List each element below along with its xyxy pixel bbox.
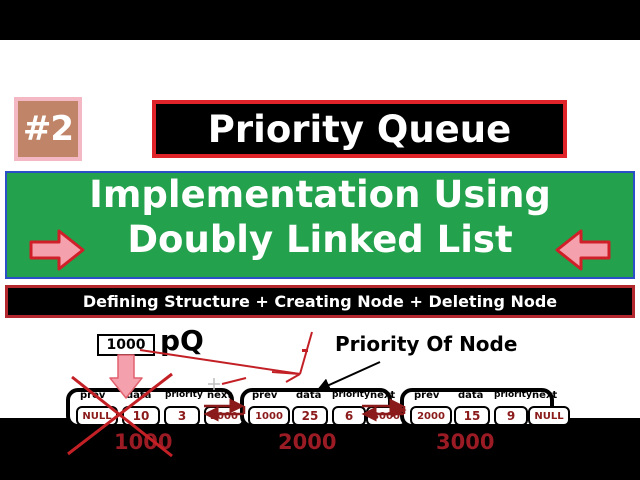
banner-line-1: Implementation Using	[7, 176, 633, 215]
node-3-data-label: data	[458, 390, 483, 401]
node-3-priority-value: 9	[507, 409, 515, 423]
node-1-priority-field: 3	[164, 406, 200, 426]
node-2-prev-field: 1000	[248, 406, 290, 426]
topics-text: Defining Structure + Creating Node + Del…	[83, 292, 557, 311]
video-frame: #2 Priority Queue Implementation Using D…	[0, 0, 640, 480]
node-1-address: 1000	[114, 432, 172, 453]
episode-number-badge: #2	[14, 97, 82, 161]
node-3: prev 2000 data 15 priority 9 next NULL	[400, 388, 554, 428]
node-3-data-value: 15	[464, 409, 481, 423]
node-3-prev-value: 2000	[417, 411, 445, 422]
node-1-data-label: data	[126, 390, 151, 401]
node-1-priority-value: 3	[178, 409, 186, 423]
slide-canvas: #2 Priority Queue Implementation Using D…	[0, 40, 640, 418]
node-3-priority-field: 9	[494, 406, 528, 426]
pointer-line-secondary	[300, 332, 312, 374]
node-2-address: 2000	[278, 432, 336, 453]
episode-number-text: #2	[23, 112, 73, 146]
right-pointing-arrow-icon	[29, 228, 85, 272]
node-3-next-value: NULL	[534, 411, 563, 422]
node-2-next-label: next	[370, 390, 395, 401]
node-2-priority-label: priority	[332, 390, 370, 400]
node-2-priority-value: 6	[345, 409, 353, 423]
node-3-priority-label: priority	[494, 390, 532, 400]
node-1-next-field: 2000	[204, 406, 244, 426]
node-1-prev-field: NULL	[76, 406, 118, 426]
priority-annotation-label: Priority Of Node	[335, 334, 517, 354]
pq-pointer-label: pQ	[160, 327, 204, 355]
page-title: Priority Queue	[208, 111, 511, 148]
pq-pointer-value: 1000	[107, 337, 146, 353]
banner-line-2: Doubly Linked List	[7, 221, 633, 260]
node-1-next-value: 2000	[210, 411, 238, 422]
node-2-data-label: data	[296, 390, 321, 401]
node-2-prev-label: prev	[252, 390, 277, 401]
node-2-prev-value: 1000	[255, 411, 283, 422]
linked-list-diagram: 1000 pQ Priority Of Node prev NULL data …	[0, 322, 640, 458]
node-3-prev-label: prev	[414, 390, 439, 401]
node-2-data-value: 25	[302, 409, 319, 423]
node-1-prev-label: prev	[80, 390, 105, 401]
node-2-data-field: 25	[292, 406, 328, 426]
node-1: prev NULL data 10 priority 3 next 2000	[66, 388, 234, 428]
node-1-prev-value: NULL	[82, 411, 111, 422]
node-2-priority-field: 6	[332, 406, 366, 426]
priority-annotation-arrow	[318, 362, 380, 390]
node-3-next-label: next	[532, 390, 557, 401]
node-1-data-value: 10	[133, 409, 150, 423]
topics-bar: Defining Structure + Creating Node + Del…	[5, 285, 635, 318]
node-3-next-field: NULL	[528, 406, 570, 426]
page-title-box: Priority Queue	[152, 100, 567, 158]
node-2: prev 1000 data 25 priority 6 next 3000	[240, 388, 392, 428]
node-3-address: 3000	[436, 432, 494, 453]
pointer-line-tertiary	[222, 378, 246, 384]
subtitle-banner: Implementation Using Doubly Linked List	[5, 171, 635, 279]
pq-pointer-box: 1000	[97, 334, 155, 356]
left-pointing-arrow-icon	[555, 228, 611, 272]
node-1-priority-label: priority	[165, 390, 203, 400]
node-1-next-label: next	[207, 390, 232, 401]
node-2-next-value: 3000	[372, 411, 400, 422]
node-3-data-field: 15	[454, 406, 490, 426]
annotation-tick	[302, 349, 308, 352]
node-1-data-field: 10	[122, 406, 160, 426]
node-3-prev-field: 2000	[410, 406, 452, 426]
